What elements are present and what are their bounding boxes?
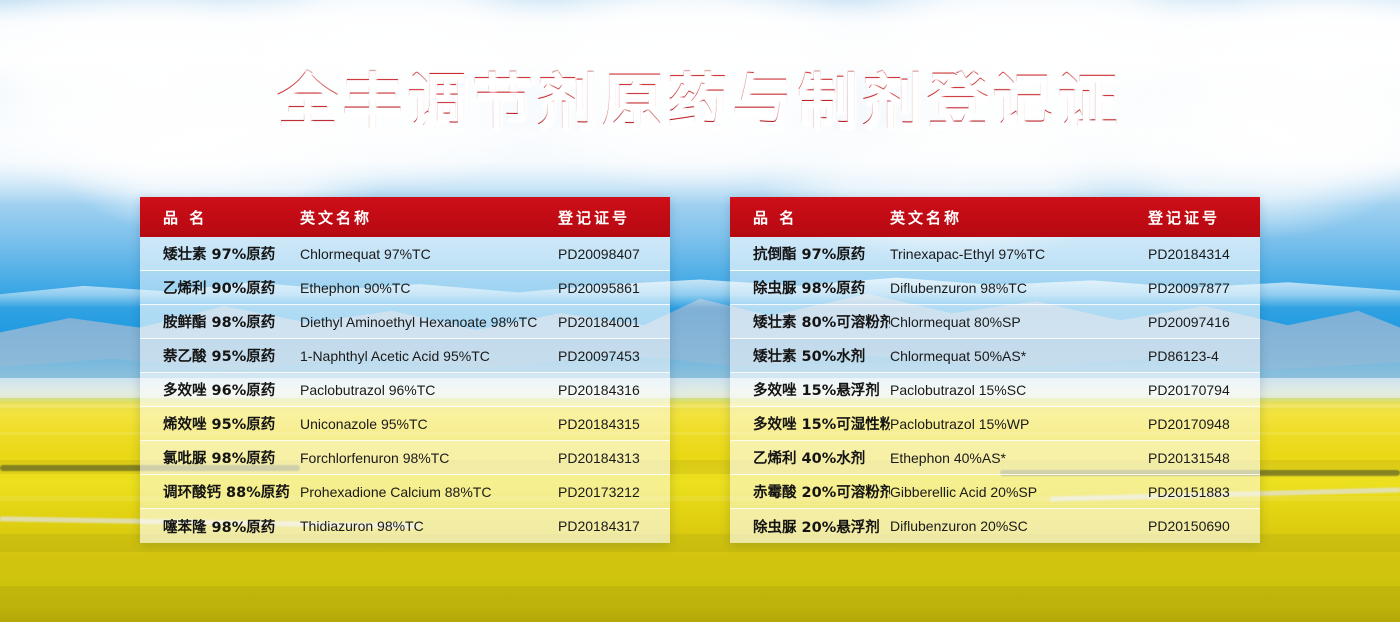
cell-english-name: Forchlorfenuron 98%TC — [300, 450, 558, 466]
cell-product-name: 多效唑 96%原药 — [140, 379, 300, 400]
field-shade-3 — [0, 586, 1400, 622]
table-row[interactable]: 乙烯利 90%原药 Ethephon 90%TC PD20095861 — [140, 271, 670, 305]
cell-product-name: 调环酸钙 88%原药 — [140, 481, 300, 502]
column-header-registration-no: 登记证号 — [1148, 207, 1260, 228]
cell-registration-no: PD86123-4 — [1148, 348, 1260, 364]
cell-english-name: 1-Naphthyl Acetic Acid 95%TC — [300, 348, 558, 364]
cell-english-name: Thidiazuron 98%TC — [300, 518, 558, 534]
registration-table-left: 品 名 英文名称 登记证号 矮壮素 97%原药 Chlormequat 97%T… — [140, 197, 670, 543]
table-row[interactable]: 调环酸钙 88%原药 Prohexadione Calcium 88%TC PD… — [140, 475, 670, 509]
table-row[interactable]: 抗倒酯 97%原药 Trinexapac-Ethyl 97%TC PD20184… — [730, 237, 1260, 271]
cell-english-name: Ethephon 40%AS* — [890, 450, 1148, 466]
table-row[interactable]: 除虫脲 20%悬浮剂 Diflubenzuron 20%SC PD2015069… — [730, 509, 1260, 543]
table-row[interactable]: 矮壮素 50%水剂 Chlormequat 50%AS* PD86123-4 — [730, 339, 1260, 373]
cell-product-name: 胺鲜酯 98%原药 — [140, 311, 300, 332]
column-header-product-name: 品 名 — [140, 207, 300, 228]
cell-english-name: Chlormequat 50%AS* — [890, 348, 1148, 364]
table-row[interactable]: 赤霉酸 20%可溶粉剂 Gibberellic Acid 20%SP PD201… — [730, 475, 1260, 509]
table-row[interactable]: 乙烯利 40%水剂 Ethephon 40%AS* PD20131548 — [730, 441, 1260, 475]
cell-product-name: 萘乙酸 95%原药 — [140, 345, 300, 366]
cell-registration-no: PD20173212 — [558, 484, 670, 500]
cell-english-name: Uniconazole 95%TC — [300, 416, 558, 432]
column-header-product-name: 品 名 — [730, 207, 890, 228]
cell-registration-no: PD20097877 — [1148, 280, 1260, 296]
cell-registration-no: PD20184001 — [558, 314, 670, 330]
cell-product-name: 矮壮素 50%水剂 — [730, 345, 890, 366]
registration-table-right: 品 名 英文名称 登记证号 抗倒酯 97%原药 Trinexapac-Ethyl… — [730, 197, 1260, 543]
cell-english-name: Gibberellic Acid 20%SP — [890, 484, 1148, 500]
cell-product-name: 乙烯利 40%水剂 — [730, 447, 890, 468]
table-row[interactable]: 多效唑 15%悬浮剂 Paclobutrazol 15%SC PD2017079… — [730, 373, 1260, 407]
table-row[interactable]: 噻苯隆 98%原药 Thidiazuron 98%TC PD20184317 — [140, 509, 670, 543]
cell-product-name: 乙烯利 90%原药 — [140, 277, 300, 298]
table-body: 矮壮素 97%原药 Chlormequat 97%TC PD20098407 乙… — [140, 237, 670, 543]
cell-registration-no: PD20184316 — [558, 382, 670, 398]
cell-registration-no: PD20184315 — [558, 416, 670, 432]
table-row[interactable]: 多效唑 96%原药 Paclobutrazol 96%TC PD20184316 — [140, 373, 670, 407]
cell-product-name: 烯效唑 95%原药 — [140, 413, 300, 434]
cell-product-name: 除虫脲 98%原药 — [730, 277, 890, 298]
cell-registration-no: PD20184314 — [1148, 246, 1260, 262]
cell-registration-no: PD20151883 — [1148, 484, 1260, 500]
page-title: 全丰调节剂原药与制剂登记证 — [0, 72, 1400, 132]
cell-english-name: Trinexapac-Ethyl 97%TC — [890, 246, 1148, 262]
table-body: 抗倒酯 97%原药 Trinexapac-Ethyl 97%TC PD20184… — [730, 237, 1260, 543]
table-header-row: 品 名 英文名称 登记证号 — [730, 197, 1260, 237]
cell-english-name: Diflubenzuron 20%SC — [890, 518, 1148, 534]
table-row[interactable]: 矮壮素 97%原药 Chlormequat 97%TC PD20098407 — [140, 237, 670, 271]
column-header-english-name: 英文名称 — [300, 207, 558, 228]
cell-english-name: Diflubenzuron 98%TC — [890, 280, 1148, 296]
cell-english-name: Paclobutrazol 15%SC — [890, 382, 1148, 398]
cell-registration-no: PD20184313 — [558, 450, 670, 466]
table-row[interactable]: 烯效唑 95%原药 Uniconazole 95%TC PD20184315 — [140, 407, 670, 441]
cell-english-name: Prohexadione Calcium 88%TC — [300, 484, 558, 500]
table-header-row: 品 名 英文名称 登记证号 — [140, 197, 670, 237]
cell-registration-no: PD20098407 — [558, 246, 670, 262]
cell-registration-no: PD20150690 — [1148, 518, 1260, 534]
cell-registration-no: PD20170794 — [1148, 382, 1260, 398]
table-row[interactable]: 除虫脲 98%原药 Diflubenzuron 98%TC PD20097877 — [730, 271, 1260, 305]
cell-registration-no: PD20097416 — [1148, 314, 1260, 330]
cell-english-name: Paclobutrazol 15%WP — [890, 416, 1148, 432]
table-row[interactable]: 多效唑 15%可湿性粉剂 Paclobutrazol 15%WP PD20170… — [730, 407, 1260, 441]
column-header-english-name: 英文名称 — [890, 207, 1148, 228]
cell-product-name: 矮壮素 97%原药 — [140, 243, 300, 264]
cell-english-name: Diethyl Aminoethyl Hexanoate 98%TC — [300, 314, 558, 330]
table-row[interactable]: 矮壮素 80%可溶粉剂 Chlormequat 80%SP PD20097416 — [730, 305, 1260, 339]
table-row[interactable]: 萘乙酸 95%原药 1-Naphthyl Acetic Acid 95%TC P… — [140, 339, 670, 373]
cell-registration-no: PD20184317 — [558, 518, 670, 534]
cell-product-name: 多效唑 15%可湿性粉剂 — [730, 413, 890, 434]
cell-registration-no: PD20097453 — [558, 348, 670, 364]
cell-registration-no: PD20131548 — [1148, 450, 1260, 466]
cell-english-name: Chlormequat 80%SP — [890, 314, 1148, 330]
cell-registration-no: PD20095861 — [558, 280, 670, 296]
cell-product-name: 噻苯隆 98%原药 — [140, 516, 300, 537]
banner-stage: 全丰调节剂原药与制剂登记证 品 名 英文名称 登记证号 矮壮素 97%原药 Ch… — [0, 0, 1400, 622]
table-row[interactable]: 胺鲜酯 98%原药 Diethyl Aminoethyl Hexanoate 9… — [140, 305, 670, 339]
cell-registration-no: PD20170948 — [1148, 416, 1260, 432]
table-row[interactable]: 氯吡脲 98%原药 Forchlorfenuron 98%TC PD201843… — [140, 441, 670, 475]
cell-product-name: 矮壮素 80%可溶粉剂 — [730, 311, 890, 332]
cell-product-name: 除虫脲 20%悬浮剂 — [730, 516, 890, 537]
column-header-registration-no: 登记证号 — [558, 207, 670, 228]
cell-product-name: 多效唑 15%悬浮剂 — [730, 379, 890, 400]
cell-english-name: Paclobutrazol 96%TC — [300, 382, 558, 398]
cell-product-name: 氯吡脲 98%原药 — [140, 447, 300, 468]
cell-product-name: 抗倒酯 97%原药 — [730, 243, 890, 264]
cell-english-name: Chlormequat 97%TC — [300, 246, 558, 262]
cell-english-name: Ethephon 90%TC — [300, 280, 558, 296]
cell-product-name: 赤霉酸 20%可溶粉剂 — [730, 481, 890, 502]
